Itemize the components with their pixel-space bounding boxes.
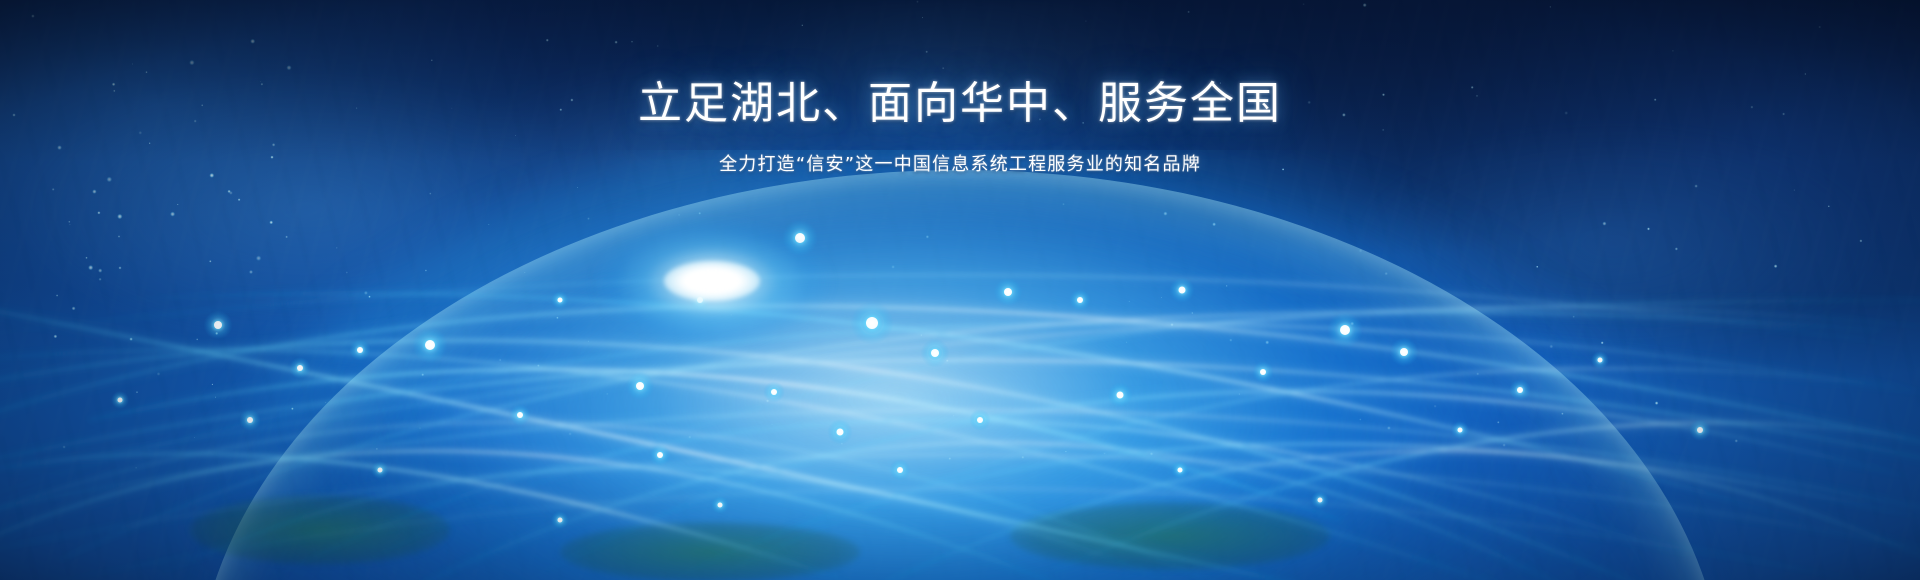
hero-banner: 立足湖北、面向华中、服务全国 全力打造“信安”这一中国信息系统工程服务业的知名品… bbox=[0, 0, 1920, 580]
banner-headline: 立足湖北、面向华中、服务全国 bbox=[0, 78, 1920, 130]
banner-subheadline: 全力打造“信安”这一中国信息系统工程服务业的知名品牌 bbox=[0, 150, 1920, 176]
banner-copy: 立足湖北、面向华中、服务全国 全力打造“信安”这一中国信息系统工程服务业的知名品… bbox=[0, 78, 1920, 176]
